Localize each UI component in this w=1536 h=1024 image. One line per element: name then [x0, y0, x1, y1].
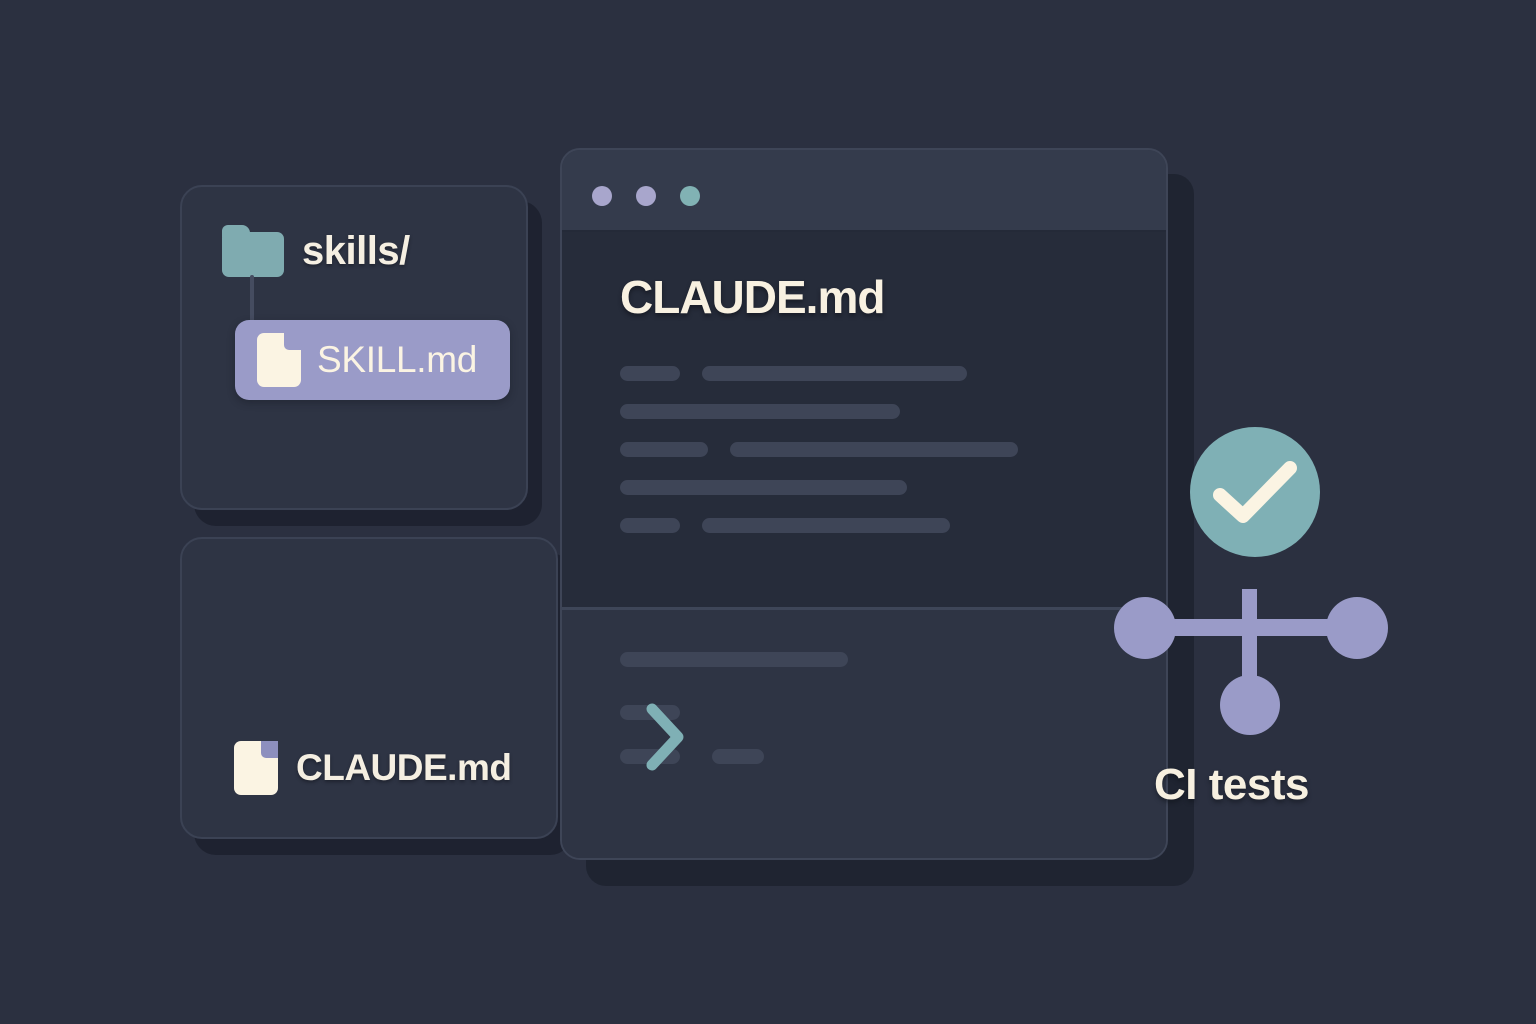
document-skeleton-row: [620, 518, 1122, 533]
claude-md-panel: CLAUDE.md: [180, 537, 558, 839]
claude-md-label: CLAUDE.md: [296, 747, 511, 789]
skeleton-bar: [620, 366, 680, 381]
terminal-stub-right: [712, 749, 764, 764]
skeleton-bar: [730, 442, 1018, 457]
terminal-area[interactable]: [562, 610, 1166, 860]
window-titlebar: [562, 150, 1166, 232]
document-skeleton-row: [620, 404, 1122, 419]
editor-window: CLAUDE.md: [560, 148, 1168, 860]
terminal-prompt-line[interactable]: [620, 701, 1122, 781]
folder-icon-body: [222, 232, 284, 277]
document-title: CLAUDE.md: [620, 270, 1122, 324]
check-circle-icon: [1190, 427, 1320, 557]
file-icon-fold: [284, 333, 301, 350]
skeleton-bar: [702, 518, 950, 533]
skeleton-bar: [620, 518, 680, 533]
terminal-prompt-chevron-icon: [644, 701, 690, 773]
file-icon: [257, 333, 301, 387]
terminal-output-bar: [620, 652, 848, 667]
skill-md-label: SKILL.md: [317, 339, 477, 381]
folder-row-skills[interactable]: skills/: [222, 225, 410, 277]
file-icon-fold: [261, 741, 278, 758]
skeleton-bar: [620, 404, 900, 419]
skills-panel: skills/ SKILL.md: [180, 185, 528, 510]
checkmark-icon: [1212, 459, 1298, 525]
document-skeleton-row: [620, 366, 1122, 381]
window-dot-maximize[interactable]: [680, 186, 700, 206]
folder-label-skills: skills/: [302, 229, 410, 274]
skill-md-badge[interactable]: SKILL.md: [235, 320, 510, 400]
tree-connector-line: [250, 275, 254, 323]
file-icon: [234, 741, 278, 795]
document-skeleton-rows: [620, 366, 1122, 533]
window-dot-minimize[interactable]: [636, 186, 656, 206]
skeleton-bar: [620, 442, 708, 457]
git-branch-icon: [1105, 585, 1395, 735]
claude-md-row[interactable]: CLAUDE.md: [234, 741, 511, 795]
window-controls: [592, 186, 700, 206]
document-skeleton-row: [620, 442, 1122, 457]
skeleton-bar: [620, 480, 907, 495]
ci-tests-cluster: CI tests: [1150, 415, 1450, 835]
illustration-canvas: skills/ SKILL.md CLAUDE.md: [0, 0, 1536, 1024]
window-dot-close[interactable]: [592, 186, 612, 206]
folder-icon: [222, 225, 284, 277]
document-content-area: CLAUDE.md: [562, 232, 1166, 610]
document-skeleton-row: [620, 480, 1122, 495]
skeleton-bar: [702, 366, 967, 381]
ci-tests-label: CI tests: [1154, 760, 1309, 810]
